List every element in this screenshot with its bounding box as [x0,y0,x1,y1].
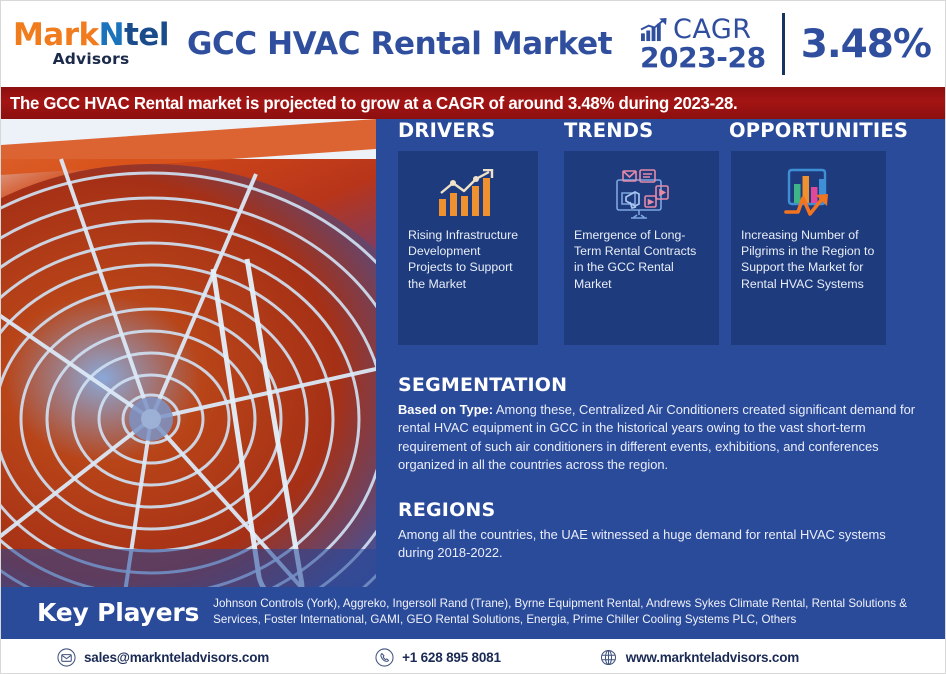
column-drivers: DRIVERS [398,119,546,345]
card-text-opportunities: Increasing Number of Pilgrims in the Reg… [741,227,876,292]
cagr-block: CAGR 2023-28 3.48% [640,13,946,75]
key-players-title: Key Players [37,598,199,627]
cagr-left: CAGR 2023-28 [640,17,766,72]
card-icon-wrap-trends [574,161,709,227]
column-trends: TRENDS [564,119,724,345]
card-trends[interactable]: Emergence of Long-Term Rental Contracts … [564,151,719,345]
key-players-list: Johnson Controls (York), Aggreko, Ingers… [213,596,946,629]
envelope-icon [57,648,76,667]
company-logo[interactable]: MarkNtel Advisors [1,20,173,68]
logo-part-mark: Mark [13,17,99,53]
page-title: GCC HVAC Rental Market [173,26,640,62]
footer-phone[interactable]: +1 628 895 8081 [375,648,501,667]
orange-bar-chart-trend-icon [431,169,505,219]
phone-icon [375,648,394,667]
card-icon-wrap-drivers [408,161,528,227]
hvac-fan-grille-illustration [1,119,376,587]
logo-wordmark: MarkNtel [13,20,169,52]
globe-icon [599,648,618,667]
segmentation-body: Based on Type: Among these, Centralized … [398,401,918,474]
key-players-section: Key Players Johnson Controls (York), Agg… [1,587,946,637]
hvac-fan-photo [1,119,376,587]
card-opportunities[interactable]: Increasing Number of Pilgrims in the Reg… [731,151,886,345]
card-drivers[interactable]: Rising Infrastructure Development Projec… [398,151,538,345]
header: MarkNtel Advisors GCC HVAC Rental Market… [1,1,946,87]
colored-bar-chart-growth-icon [778,167,840,221]
column-heading-trends: TRENDS [564,119,724,142]
content-panel: DRIVERS [376,119,946,587]
regions-heading: REGIONS [398,499,918,521]
footer-phone-text: +1 628 895 8081 [402,650,501,665]
segmentation-section: SEGMENTATION Based on Type: Among these,… [398,374,918,474]
regions-section: REGIONS Among all the countries, the UAE… [398,499,918,563]
footer-email-text: sales@marknteladvisors.com [84,650,269,665]
cagr-label: CAGR [673,17,752,43]
logo-part-tel: tel [124,17,169,53]
cagr-years: 2023-28 [640,44,766,72]
footer-website[interactable]: www.marknteladvisors.com [599,648,799,667]
monitor-marketing-media-icon [609,166,675,222]
column-opportunities: OPPORTUNITIES [731,119,896,345]
cagr-divider [782,13,785,75]
cagr-label-row: CAGR [640,17,752,43]
highlight-cards-row: DRIVERS [376,119,946,369]
infographic-page: MarkNtel Advisors GCC HVAC Rental Market… [0,0,946,674]
segmentation-lead: Based on Type: [398,402,493,417]
segmentation-heading: SEGMENTATION [398,374,918,396]
footer: sales@marknteladvisors.com +1 628 895 80… [1,637,946,674]
highlight-banner: The GCC HVAC Rental market is projected … [1,87,946,119]
column-heading-drivers: DRIVERS [398,119,546,142]
footer-website-text: www.marknteladvisors.com [626,650,799,665]
regions-body: Among all the countries, the UAE witness… [398,526,918,563]
column-heading-opportunities: OPPORTUNITIES [729,119,896,142]
logo-part-n: N [99,17,124,53]
bar-chart-arrow-icon [640,17,669,43]
card-icon-wrap-opportunities [741,161,876,227]
logo-subtitle: Advisors [53,50,130,68]
footer-email[interactable]: sales@marknteladvisors.com [57,648,269,667]
highlight-banner-text: The GCC HVAC Rental market is projected … [10,93,737,114]
card-text-trends: Emergence of Long-Term Rental Contracts … [574,227,709,292]
card-text-drivers: Rising Infrastructure Development Projec… [408,227,528,292]
body-area: DRIVERS [1,119,946,637]
cagr-value: 3.48% [801,22,931,67]
